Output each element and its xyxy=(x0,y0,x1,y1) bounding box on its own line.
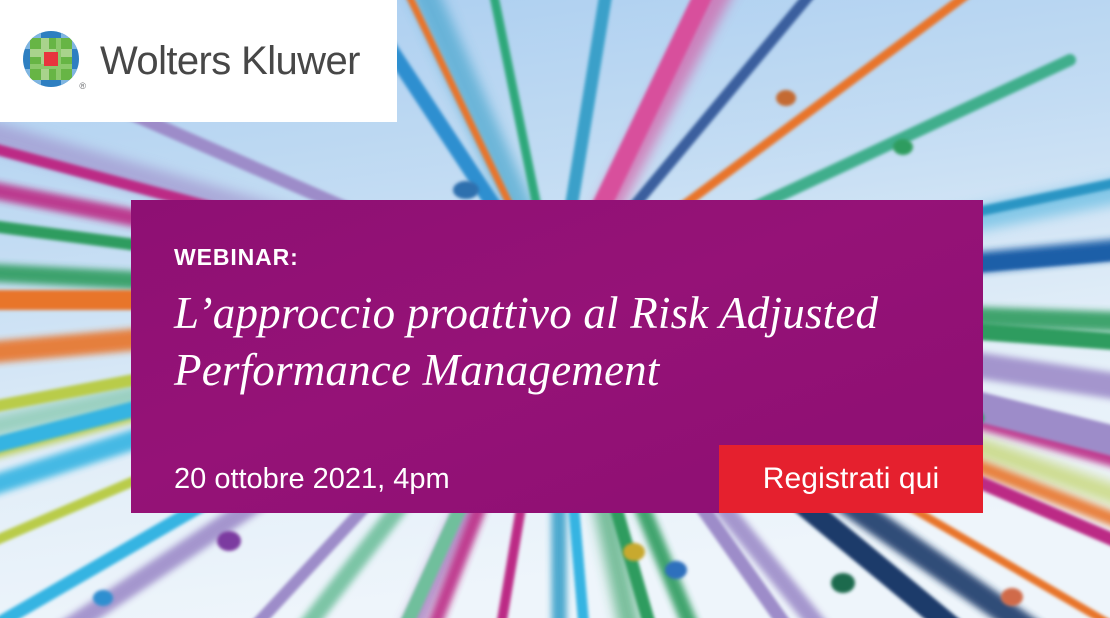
panel-footer: 20 ottobre 2021, 4pm Registrati qui xyxy=(131,445,983,513)
webinar-content-panel: WEBINAR: L’approccio proattivo al Risk A… xyxy=(131,200,983,513)
event-date-text: 20 ottobre 2021, 4pm xyxy=(131,445,450,513)
webinar-eyebrow-label: WEBINAR: xyxy=(174,246,983,269)
page-title: L’approccio proattivo al Risk Adjusted P… xyxy=(174,285,974,399)
wolters-kluwer-globe-logo: ® xyxy=(22,30,84,92)
registered-trademark-icon: ® xyxy=(79,82,86,91)
headline-line-2: Performance Management xyxy=(174,342,974,399)
footer-spacer xyxy=(450,445,719,513)
brand-logo-plate: ® Wolters Kluwer xyxy=(0,0,397,122)
webinar-banner: ® Wolters Kluwer WEBINAR: L’approccio pr… xyxy=(0,0,1110,618)
headline-line-1: L’approccio proattivo al Risk Adjusted xyxy=(174,285,974,342)
brand-wordmark: Wolters Kluwer xyxy=(100,39,360,84)
register-button[interactable]: Registrati qui xyxy=(719,445,983,513)
